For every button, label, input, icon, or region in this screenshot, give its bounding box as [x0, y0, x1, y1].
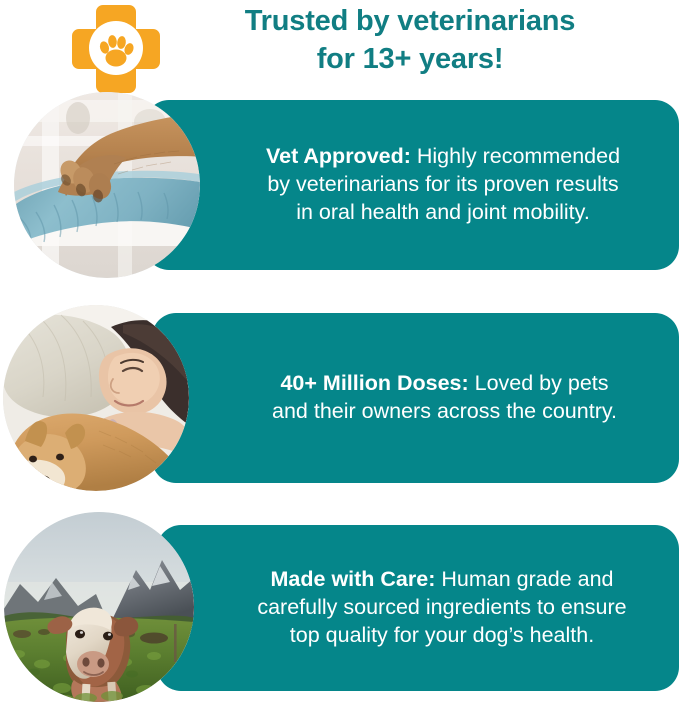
feature-photo-vet-paw: [14, 92, 200, 278]
feature-photo-woman-and-dog: [3, 305, 189, 491]
feature-panel: Vet Approved: Highly recommended by vete…: [145, 100, 679, 270]
feature-heading: 40+ Million Doses:: [280, 371, 468, 395]
veterinary-cross-paw-badge-icon: [70, 2, 162, 94]
photo-clip: [14, 92, 200, 278]
feature-panel: Made with Care: Human grade and carefull…: [157, 525, 679, 691]
feature-heading: Vet Approved:: [266, 144, 411, 168]
feature-text: 40+ Million Doses: Loved by pets and the…: [249, 370, 641, 426]
feature-heading: Made with Care:: [271, 567, 436, 591]
page-title-line-1: Trusted by veterinarians: [160, 2, 660, 40]
page-title: Trusted by veterinarians for 13+ years!: [160, 2, 660, 79]
feature-photo-cow-pasture: [4, 512, 194, 702]
photo-clip: [4, 512, 194, 702]
feature-panel: 40+ Million Doses: Loved by pets and the…: [152, 313, 679, 483]
page-title-line-2: for 13+ years!: [160, 40, 660, 78]
feature-text: Vet Approved: Highly recommended by vete…: [243, 143, 643, 227]
header-banner: Trusted by veterinarians for 13+ years!: [0, 0, 679, 96]
photo-clip: [3, 305, 189, 491]
feature-text: Made with Care: Human grade and carefull…: [232, 566, 652, 650]
